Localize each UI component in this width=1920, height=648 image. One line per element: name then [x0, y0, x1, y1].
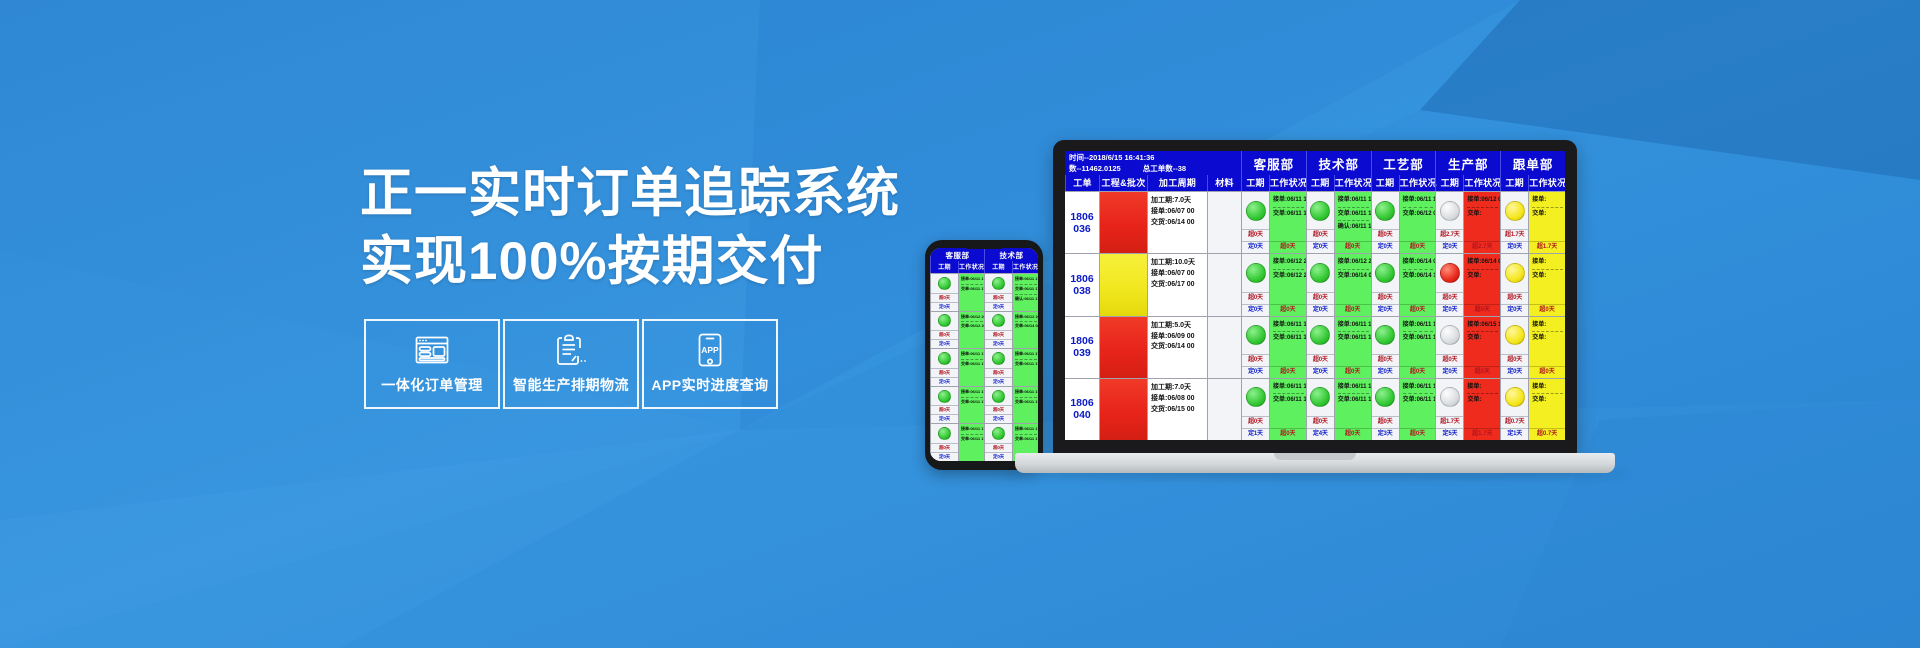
duration-cell-客服部: 超0天定0天: [1241, 254, 1269, 315]
work-status-cell-技术部: 接单:06/11 17交单:06/11 17超0天: [1334, 379, 1371, 440]
column-header-跟单部-工期[interactable]: 工期: [1500, 175, 1528, 191]
status-lines: 接单:06/14 08交单:06/14 14: [1400, 254, 1436, 303]
phone-duration-cell-技术部: 超0天定0天: [984, 424, 1012, 461]
status-lines: 接单:06/11 17交单:06/11 17: [1270, 192, 1306, 241]
duration-cell-技术部: 超0天定4天: [1306, 379, 1334, 440]
overdue-tag: 超0.7天: [1501, 416, 1528, 428]
phone-planned-tag: 定0天: [931, 339, 958, 348]
overdue-tag: 超0天: [1372, 229, 1399, 241]
status-line-2: 交单:: [1467, 209, 1498, 220]
overdue-tag: 超0天: [1307, 229, 1334, 241]
status-foot-tag: 超2.7天: [1464, 241, 1500, 253]
phone-planned-tag: 定0天: [931, 302, 958, 311]
status-line-2: 交单:06/11 17: [1403, 395, 1434, 406]
status-line-2: 交单:06/12 09: [1403, 209, 1434, 220]
status-dot-yellow[interactable]: [1505, 201, 1525, 221]
status-line-1: 接单:06/11 17: [1338, 382, 1369, 393]
status-dot-green[interactable]: [1310, 387, 1330, 407]
status-lines: 接单:06/11 17交单:06/11 17: [1270, 379, 1306, 428]
status-indicator-wrap: [1372, 317, 1399, 354]
status-line-2: 交单:: [1532, 209, 1563, 220]
status-line-1: 接单:06/12 20: [1273, 257, 1304, 268]
status-line-2: 交单:06/11 17: [1338, 209, 1369, 220]
status-lines: 接单:交单:: [1529, 317, 1565, 366]
status-lines: 接单:06/11 17交单:06/11 17: [1335, 317, 1371, 366]
phone-status-dot-green[interactable]: [992, 314, 1005, 327]
cycle-line-3: 交货:06/17 00: [1151, 280, 1205, 291]
status-separator: [1403, 331, 1434, 332]
phone-work-status-cell-客服部: 接单:06/11 17交单:06/11 17: [958, 274, 984, 311]
planned-tag: 定0天: [1436, 241, 1463, 253]
overdue-tag: 超0天: [1242, 416, 1269, 428]
work-status-cell-客服部: 接单:06/11 17交单:06/11 17超0天: [1269, 192, 1306, 253]
duration-cell-生产部: 超1.7天定5天: [1435, 379, 1463, 440]
overdue-tag: 超1.7天: [1436, 416, 1463, 428]
cycle-line-2: 接单:06/07 00: [1151, 269, 1205, 280]
cycle-line-2: 接单:06/08 00: [1151, 394, 1205, 405]
status-line-2: 交单:: [1467, 395, 1498, 406]
phone-planned-tag: 定0天: [931, 377, 958, 386]
work-status-cell-工艺部: 接单:06/11 17交单:06/12 09超0天: [1399, 192, 1436, 253]
meta-time: 时间--2018/6/15 16:41:36: [1069, 153, 1238, 164]
column-header-生产部-工期[interactable]: 工期: [1435, 175, 1463, 191]
status-line-1: 接单:06/11 17: [1403, 320, 1434, 331]
status-lines: 接单:交单:: [1529, 192, 1565, 241]
status-dot-green[interactable]: [1246, 387, 1266, 407]
status-dot-yellow[interactable]: [1505, 263, 1525, 283]
status-separator: [1338, 207, 1369, 208]
status-lines: 接单:06/11 17交单:06/11 17: [1400, 317, 1436, 366]
status-separator: [1338, 393, 1369, 394]
status-line-1: 接单:06/11 17: [1273, 382, 1304, 393]
feature-card-order-management[interactable]: 一体化订单管理: [364, 319, 500, 409]
planned-tag: 定3天: [1372, 428, 1399, 440]
cycle-line-1: 加工期:10.0天: [1151, 258, 1205, 269]
status-dot-grey[interactable]: [1440, 387, 1460, 407]
phone-overdue-tag: 超0天: [931, 293, 958, 302]
phone-overdue-tag: 超0天: [985, 330, 1012, 339]
phone-status-lines: 接单:06/11 17交单:06/11 17: [959, 349, 984, 386]
status-line-1: 接单:: [1532, 195, 1563, 206]
phone-status-line-1: 接单:06/11 17: [961, 351, 983, 358]
phone-status-dot-green[interactable]: [992, 390, 1005, 403]
phone-status-line-2: 交单:06/11 17: [961, 436, 983, 443]
project-batch-cell: [1099, 317, 1147, 378]
overdue-tag: 超0天: [1436, 292, 1463, 304]
column-header-材料[interactable]: 材料: [1207, 175, 1241, 191]
status-line-2: 交单:06/11 17: [1338, 395, 1369, 406]
work-status-cell-跟单部: 接单:交单:超0天: [1528, 317, 1565, 378]
overdue-tag: 超0天: [1307, 292, 1334, 304]
phone-status-indicator-wrap: [985, 349, 1012, 368]
planned-tag: 定0天: [1436, 304, 1463, 316]
phone-status-line-2: 交单:06/11 17: [961, 399, 983, 406]
overdue-tag: 超2.7天: [1436, 229, 1463, 241]
work-status-cell-生产部: 接单:交单:超1.7天: [1463, 379, 1500, 440]
status-foot-tag: 超0天: [1335, 428, 1371, 440]
overdue-tag: 超0天: [1372, 416, 1399, 428]
planned-tag: 定0天: [1307, 366, 1334, 378]
order-tracking-dashboard: 时间--2018/6/15 16:41:36 数--11462.0125 总工单…: [1065, 151, 1565, 440]
status-lines: 接单:06/11 17交单:06/12 09: [1400, 192, 1436, 241]
table-row[interactable]: 1806036 加工期:7.0天接单:06/07 00交货:06/14 00超0…: [1065, 191, 1565, 253]
phone-overdue-tag: 超0天: [985, 405, 1012, 414]
meta-total: 总工单数--38: [1143, 164, 1186, 175]
table-row[interactable]: 1806039 加工期:5.0天接单:06/09 00交货:06/14 00超0…: [1065, 316, 1565, 378]
status-dot-green[interactable]: [1246, 201, 1266, 221]
column-header-客服部-工期[interactable]: 工期: [1241, 175, 1269, 191]
work-status-cell-生产部: 接单:06/12 09交单:超2.7天: [1463, 192, 1500, 253]
department-header-4[interactable]: 生产部: [1435, 151, 1500, 175]
work-status-cell-生产部: 接单:06/14 08交单:超0天: [1463, 254, 1500, 315]
planned-tag: 定0天: [1242, 366, 1269, 378]
cycle-line-3: 交货:06/14 00: [1151, 342, 1205, 353]
phone-status-indicator-wrap: [985, 387, 1012, 406]
phone-status-dot-green[interactable]: [938, 427, 951, 440]
planned-tag: 定0天: [1307, 304, 1334, 316]
status-separator: [1403, 207, 1434, 208]
cycle-line-2: 接单:06/09 00: [1151, 332, 1205, 343]
phone-status-lines: 接单:06/11 17交单:06/11 17: [959, 387, 984, 424]
phone-overdue-tag: 超0天: [985, 293, 1012, 302]
phone-planned-tag: 定0天: [985, 377, 1012, 386]
status-line-1: 接单:06/14 08: [1467, 257, 1498, 268]
status-lines: 接单:交单:: [1464, 379, 1500, 428]
status-dot-green[interactable]: [1310, 263, 1330, 283]
phone-status-indicator-wrap: [931, 387, 958, 406]
status-dot-green[interactable]: [1246, 263, 1266, 283]
duration-cell-跟单部: 超0天定0天: [1500, 254, 1528, 315]
status-foot-tag: 超0天: [1270, 304, 1306, 316]
phone-status-line-1: 接单:06/12 20: [961, 314, 983, 321]
work-status-cell-跟单部: 接单:交单:超1.7天: [1528, 192, 1565, 253]
duration-cell-跟单部: 超0.7天定1天: [1500, 379, 1528, 440]
phone-status-indicator-wrap: [931, 312, 958, 331]
status-line-2: 交单:06/14 08: [1338, 271, 1369, 282]
status-dot-grey[interactable]: [1440, 201, 1460, 221]
status-separator: [1338, 269, 1369, 270]
status-line-1: 接单:06/14 08: [1403, 257, 1434, 268]
duration-cell-工艺部: 超0天定3天: [1371, 379, 1399, 440]
work-order-number: 1806038: [1065, 254, 1099, 315]
project-batch-text: [1100, 379, 1147, 418]
status-lines: 接单:06/11 17交单:06/11 17确认:06/11 17: [1335, 192, 1371, 241]
status-dot-yellow[interactable]: [1505, 387, 1525, 407]
status-indicator-wrap: [1501, 379, 1528, 416]
status-foot-tag: 超0天: [1400, 428, 1436, 440]
status-dot-green[interactable]: [1246, 325, 1266, 345]
duration-cell-生产部: 超0天定0天: [1435, 317, 1463, 378]
status-line-2: 交单:06/11 17: [1273, 395, 1304, 406]
status-indicator-wrap: [1436, 317, 1463, 354]
laptop-base: [1015, 453, 1615, 473]
status-separator: [1467, 331, 1498, 332]
status-dot-green[interactable]: [1375, 387, 1395, 407]
status-foot-tag: 超0.7天: [1529, 428, 1565, 440]
column-header-工程&批次[interactable]: 工程&批次: [1099, 175, 1147, 191]
duration-cell-生产部: 超0天定0天: [1435, 254, 1463, 315]
status-separator: [1532, 331, 1563, 332]
phone-status-dot-green[interactable]: [938, 352, 951, 365]
clipboard-icon: [556, 334, 586, 366]
phone-status-dot-green[interactable]: [938, 314, 951, 327]
planned-tag: 定5天: [1436, 428, 1463, 440]
duration-cell-工艺部: 超0天定0天: [1371, 192, 1399, 253]
table-row[interactable]: 1806038 加工期:10.0天接单:06/07 00交货:06/17 00超…: [1065, 253, 1565, 315]
column-header-工艺部-工期[interactable]: 工期: [1371, 175, 1399, 191]
status-indicator-wrap: [1242, 379, 1269, 416]
status-indicator-wrap: [1501, 254, 1528, 291]
status-line-2: 交单:: [1532, 333, 1563, 344]
feature-label: 一体化订单管理: [381, 375, 483, 395]
status-indicator-wrap: [1372, 192, 1399, 229]
duration-cell-跟单部: 超1.7天定0天: [1500, 192, 1528, 253]
column-header-工单[interactable]: 工单: [1065, 175, 1099, 191]
status-dot-green[interactable]: [1375, 325, 1395, 345]
phone-overdue-tag: 超0天: [931, 405, 958, 414]
duration-cell-技术部: 超0天定0天: [1306, 192, 1334, 253]
status-line-2: 交单:: [1467, 333, 1498, 344]
phone-status-line-2: 交单:06/11 17: [961, 286, 983, 293]
column-header-跟单部-工作状况[interactable]: 工作状况: [1528, 175, 1565, 191]
column-header-客服部-工作状况[interactable]: 工作状况: [1269, 175, 1306, 191]
work-status-cell-工艺部: 接单:06/11 17交单:06/11 17超0天: [1399, 317, 1436, 378]
status-lines: 接单:06/15 16交单:: [1464, 317, 1500, 366]
overdue-tag: 超0天: [1372, 354, 1399, 366]
work-status-cell-生产部: 接单:06/15 16交单:超0天: [1463, 317, 1500, 378]
duration-cell-客服部: 超0天定1天: [1241, 379, 1269, 440]
project-batch-text: [1100, 317, 1147, 356]
project-batch-cell: [1099, 379, 1147, 440]
phone-overdue-tag: 超0天: [931, 443, 958, 452]
headline-line-1: 正一实时订单追踪系统: [360, 164, 900, 223]
phone-duration-cell-技术部: 超0天定0天: [984, 387, 1012, 424]
status-line-1: 接单:06/11 17: [1403, 195, 1434, 206]
status-separator: [1273, 269, 1304, 270]
status-lines: 接单:06/11 17交单:06/11 17: [1335, 379, 1371, 428]
status-dot-red[interactable]: [1440, 263, 1460, 283]
status-line-2: 交单:: [1532, 271, 1563, 282]
material-cell: [1207, 254, 1241, 315]
status-separator: [1338, 220, 1369, 221]
status-indicator-wrap: [1501, 317, 1528, 354]
project-batch-cell: [1099, 192, 1147, 253]
status-indicator-wrap: [1501, 192, 1528, 229]
phone-duration-cell-客服部: 超0天定0天: [930, 424, 958, 461]
app-icon-text: APP: [701, 345, 719, 355]
status-foot-tag: 超0天: [1529, 304, 1565, 316]
status-dot-green[interactable]: [1310, 201, 1330, 221]
dashboard-header-row: 时间--2018/6/15 16:41:36 数--11462.0125 总工单…: [1065, 151, 1565, 175]
status-line-1: 接单:: [1467, 382, 1498, 393]
work-status-cell-技术部: 接单:06/11 17交单:06/11 17超0天: [1334, 317, 1371, 378]
work-status-cell-客服部: 接单:06/11 17交单:06/11 17超0天: [1269, 317, 1306, 378]
phone-overdue-tag: 超0天: [985, 368, 1012, 377]
status-foot-tag: 超0天: [1529, 366, 1565, 378]
feature-card-app-progress-query[interactable]: APP APP实时进度查询: [642, 319, 778, 409]
laptop-device-mockup: 时间--2018/6/15 16:41:36 数--11462.0125 总工单…: [1015, 140, 1615, 500]
status-separator: [1467, 393, 1498, 394]
phone-overdue-tag: 超0天: [931, 330, 958, 339]
phone-status-separator: [961, 284, 983, 285]
status-indicator-wrap: [1372, 379, 1399, 416]
status-foot-tag: 超0天: [1400, 241, 1436, 253]
department-headers: 客服部技术部工艺部生产部跟单部: [1241, 151, 1565, 175]
department-header-1[interactable]: 客服部: [1241, 151, 1306, 175]
cycle-line-1: 加工期:5.0天: [1151, 321, 1205, 332]
status-foot-tag: 超0天: [1335, 366, 1371, 378]
work-order-suffix: 036: [1073, 223, 1091, 235]
phone-duration-cell-技术部: 超0天定0天: [984, 274, 1012, 311]
status-lines: 接单:06/14 08交单:: [1464, 254, 1500, 303]
processing-cycle-cell: 加工期:7.0天接单:06/07 00交货:06/14 00: [1147, 192, 1207, 253]
phone-status-separator: [961, 397, 983, 398]
phone-work-status-cell-客服部: 接单:06/12 20交单:06/12 20: [958, 312, 984, 349]
status-line-1: 接单:06/11 17: [1338, 320, 1369, 331]
cycle-line-2: 接单:06/07 00: [1151, 207, 1205, 218]
phone-column-header-客服部-工期[interactable]: 工期: [930, 261, 958, 273]
column-header-加工周期[interactable]: 加工周期: [1147, 175, 1207, 191]
column-header-工艺部-工作状况[interactable]: 工作状况: [1399, 175, 1436, 191]
phone-status-line-1: 接单:06/11 17: [961, 389, 983, 396]
work-order-prefix: 1806: [1070, 397, 1093, 409]
status-line-1: 接单:06/12 09: [1467, 195, 1498, 206]
phone-status-indicator-wrap: [985, 274, 1012, 293]
status-indicator-wrap: [1242, 192, 1269, 229]
phone-work-status-cell-客服部: 接单:06/11 17交单:06/11 17: [958, 349, 984, 386]
department-header-5[interactable]: 跟单部: [1500, 151, 1565, 175]
status-line-1: 接单:: [1532, 257, 1563, 268]
status-foot-tag: 超0天: [1400, 304, 1436, 316]
status-foot-tag: 超0天: [1464, 366, 1500, 378]
phone-column-header-技术部-工期[interactable]: 工期: [984, 261, 1012, 273]
processing-cycle-cell: 加工期:10.0天接单:06/07 00交货:06/17 00: [1147, 254, 1207, 315]
status-foot-tag: 超0天: [1335, 304, 1371, 316]
duration-cell-技术部: 超0天定0天: [1306, 317, 1334, 378]
material-cell: [1207, 379, 1241, 440]
status-dot-yellow[interactable]: [1505, 325, 1525, 345]
phone-duration-cell-客服部: 超0天定0天: [930, 274, 958, 311]
phone-status-dot-green[interactable]: [938, 390, 951, 403]
status-indicator-wrap: [1436, 192, 1463, 229]
planned-tag: 定4天: [1307, 428, 1334, 440]
overdue-tag: 超0天: [1501, 354, 1528, 366]
phone-overdue-tag: 超0天: [931, 368, 958, 377]
status-dot-green[interactable]: [1375, 201, 1395, 221]
status-lines: 接单:06/11 17交单:06/11 17: [1270, 317, 1306, 366]
phone-planned-tag: 定0天: [985, 452, 1012, 461]
processing-cycle-cell: 加工期:7.0天接单:06/08 00交货:06/15 00: [1147, 379, 1207, 440]
column-header-生产部-工作状况[interactable]: 工作状况: [1463, 175, 1500, 191]
phone-status-line-2: 交单:06/11 17: [961, 361, 983, 368]
work-order-suffix: 039: [1073, 347, 1091, 359]
overdue-tag: 超0天: [1307, 416, 1334, 428]
work-status-cell-跟单部: 接单:交单:超0.7天: [1528, 379, 1565, 440]
overdue-tag: 超1.7天: [1501, 229, 1528, 241]
status-line-2: 交单:06/14 14: [1403, 271, 1434, 282]
planned-tag: 定0天: [1436, 366, 1463, 378]
status-foot-tag: 超0天: [1270, 241, 1306, 253]
status-line-2: 交单:06/11 17: [1403, 333, 1434, 344]
planned-tag: 定1天: [1242, 428, 1269, 440]
planned-tag: 定0天: [1242, 241, 1269, 253]
status-line-1: 接单:06/12 20: [1338, 257, 1369, 268]
status-separator: [1403, 269, 1434, 270]
processing-cycle-cell: 加工期:5.0天接单:06/09 00交货:06/14 00: [1147, 317, 1207, 378]
hero-copy: 正一实时订单追踪系统 实现100%按期交付: [360, 160, 980, 296]
phone-duration-cell-技术部: 超0天定0天: [984, 312, 1012, 349]
laptop-screen[interactable]: 时间--2018/6/15 16:41:36 数--11462.0125 总工单…: [1065, 151, 1565, 440]
work-status-cell-工艺部: 接单:06/14 08交单:06/14 14超0天: [1399, 254, 1436, 315]
planned-tag: 定0天: [1501, 366, 1528, 378]
status-line-2: 交单:06/11 17: [1273, 209, 1304, 220]
status-separator: [1273, 393, 1304, 394]
phone-planned-tag: 定0天: [985, 339, 1012, 348]
status-separator: [1273, 331, 1304, 332]
column-header-技术部-工作状况[interactable]: 工作状况: [1334, 175, 1371, 191]
planned-tag: 定0天: [1501, 304, 1528, 316]
status-dot-green[interactable]: [1310, 325, 1330, 345]
work-status-cell-跟单部: 接单:交单:超0天: [1528, 254, 1565, 315]
work-order-number: 1806040: [1065, 379, 1099, 440]
overdue-tag: 超0天: [1436, 354, 1463, 366]
duration-cell-跟单部: 超0天定0天: [1500, 317, 1528, 378]
phone-column-header-客服部-工作状况[interactable]: 工作状况: [958, 261, 984, 273]
work-status-cell-技术部: 接单:06/11 17交单:06/11 17确认:06/11 17超0天: [1334, 192, 1371, 253]
status-line-1: 接单:: [1532, 320, 1563, 331]
work-order-prefix: 1806: [1070, 211, 1093, 223]
department-header-3[interactable]: 工艺部: [1371, 151, 1436, 175]
meta-count: 数--11462.0125: [1069, 164, 1121, 175]
status-separator: [1273, 207, 1304, 208]
work-status-cell-客服部: 接单:06/11 17交单:06/11 17超0天: [1269, 379, 1306, 440]
status-separator: [1532, 207, 1563, 208]
work-order-number: 1806039: [1065, 317, 1099, 378]
phone-status-dot-green[interactable]: [992, 427, 1005, 440]
cycle-line-3: 交货:06/14 00: [1151, 218, 1205, 229]
phone-status-indicator-wrap: [931, 349, 958, 368]
status-indicator-wrap: [1307, 379, 1334, 416]
browser-window-icon: [415, 334, 449, 366]
column-header-技术部-工期[interactable]: 工期: [1306, 175, 1334, 191]
work-status-cell-客服部: 接单:06/12 20交单:06/12 20超0天: [1269, 254, 1306, 315]
feature-label: APP实时进度查询: [651, 375, 768, 395]
status-dot-grey[interactable]: [1440, 325, 1460, 345]
status-separator: [1467, 269, 1498, 270]
work-order-number: 1806036: [1065, 192, 1099, 253]
department-header-2[interactable]: 技术部: [1306, 151, 1371, 175]
feature-card-production-scheduling[interactable]: 智能生产排期物流: [503, 319, 639, 409]
status-lines: 接单:交单:: [1529, 254, 1565, 303]
status-foot-tag: 超1.7天: [1464, 428, 1500, 440]
duration-cell-工艺部: 超0天定0天: [1371, 254, 1399, 315]
phone-work-status-cell-客服部: 接单:06/11 17交单:06/11 17: [958, 424, 984, 461]
status-dot-green[interactable]: [1375, 263, 1395, 283]
phone-status-dot-green[interactable]: [992, 277, 1005, 290]
phone-status-indicator-wrap: [985, 424, 1012, 443]
phone-planned-tag: 定0天: [985, 414, 1012, 423]
status-line-1: 接单:: [1532, 382, 1563, 393]
planned-tag: 定0天: [1372, 366, 1399, 378]
status-indicator-wrap: [1372, 254, 1399, 291]
phone-status-dot-green[interactable]: [938, 277, 951, 290]
dashboard-meta: 时间--2018/6/15 16:41:36 数--11462.0125 总工单…: [1065, 151, 1241, 175]
phone-department-header-1[interactable]: 客服部: [930, 248, 984, 261]
table-row[interactable]: 1806040 加工期:7.0天接单:06/08 00交货:06/15 00超0…: [1065, 378, 1565, 440]
phone-status-dot-green[interactable]: [992, 352, 1005, 365]
work-status-cell-技术部: 接单:06/12 20交单:06/14 08超0天: [1334, 254, 1371, 315]
status-line-2: 交单:: [1467, 271, 1498, 282]
